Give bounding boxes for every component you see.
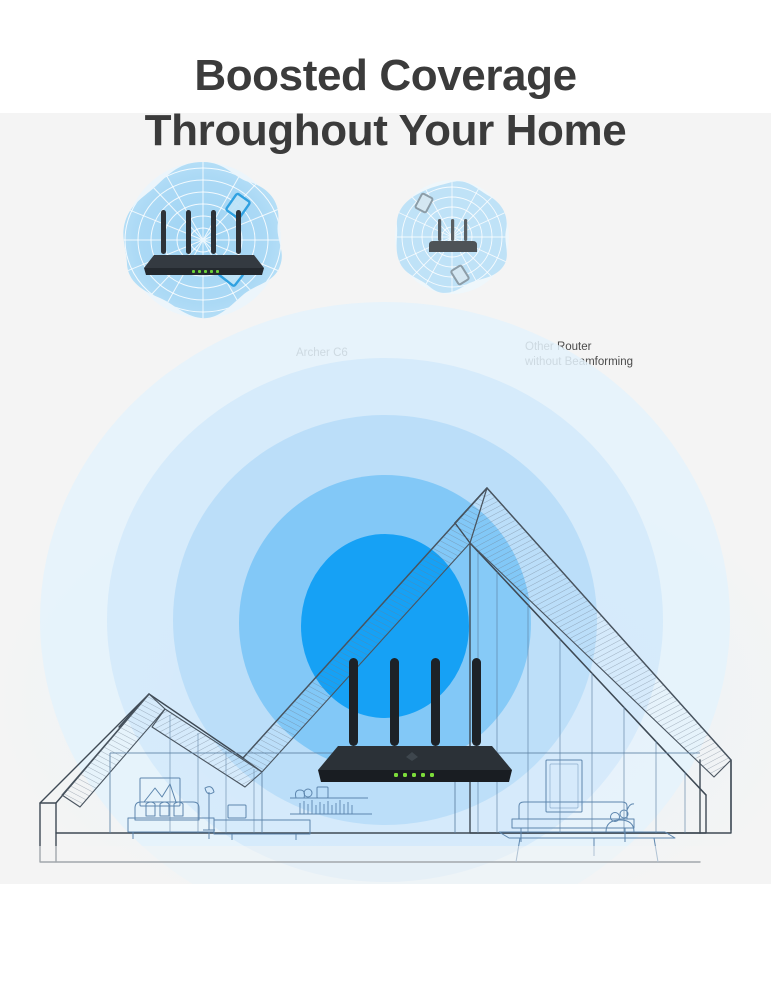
title-line-1: Boosted Coverage	[0, 48, 771, 103]
promo-page: Boosted Coverage Throughout Your Home	[0, 0, 771, 1000]
house-coverage-illustration	[0, 290, 771, 890]
title-line-2: Throughout Your Home	[0, 103, 771, 158]
page-title: Boosted Coverage Throughout Your Home	[0, 48, 771, 158]
house-scene-svg	[0, 290, 771, 890]
other-router-icon	[423, 218, 483, 256]
archer-c6-router-icon	[140, 208, 268, 280]
other-router-coverage-diagram	[390, 176, 515, 298]
